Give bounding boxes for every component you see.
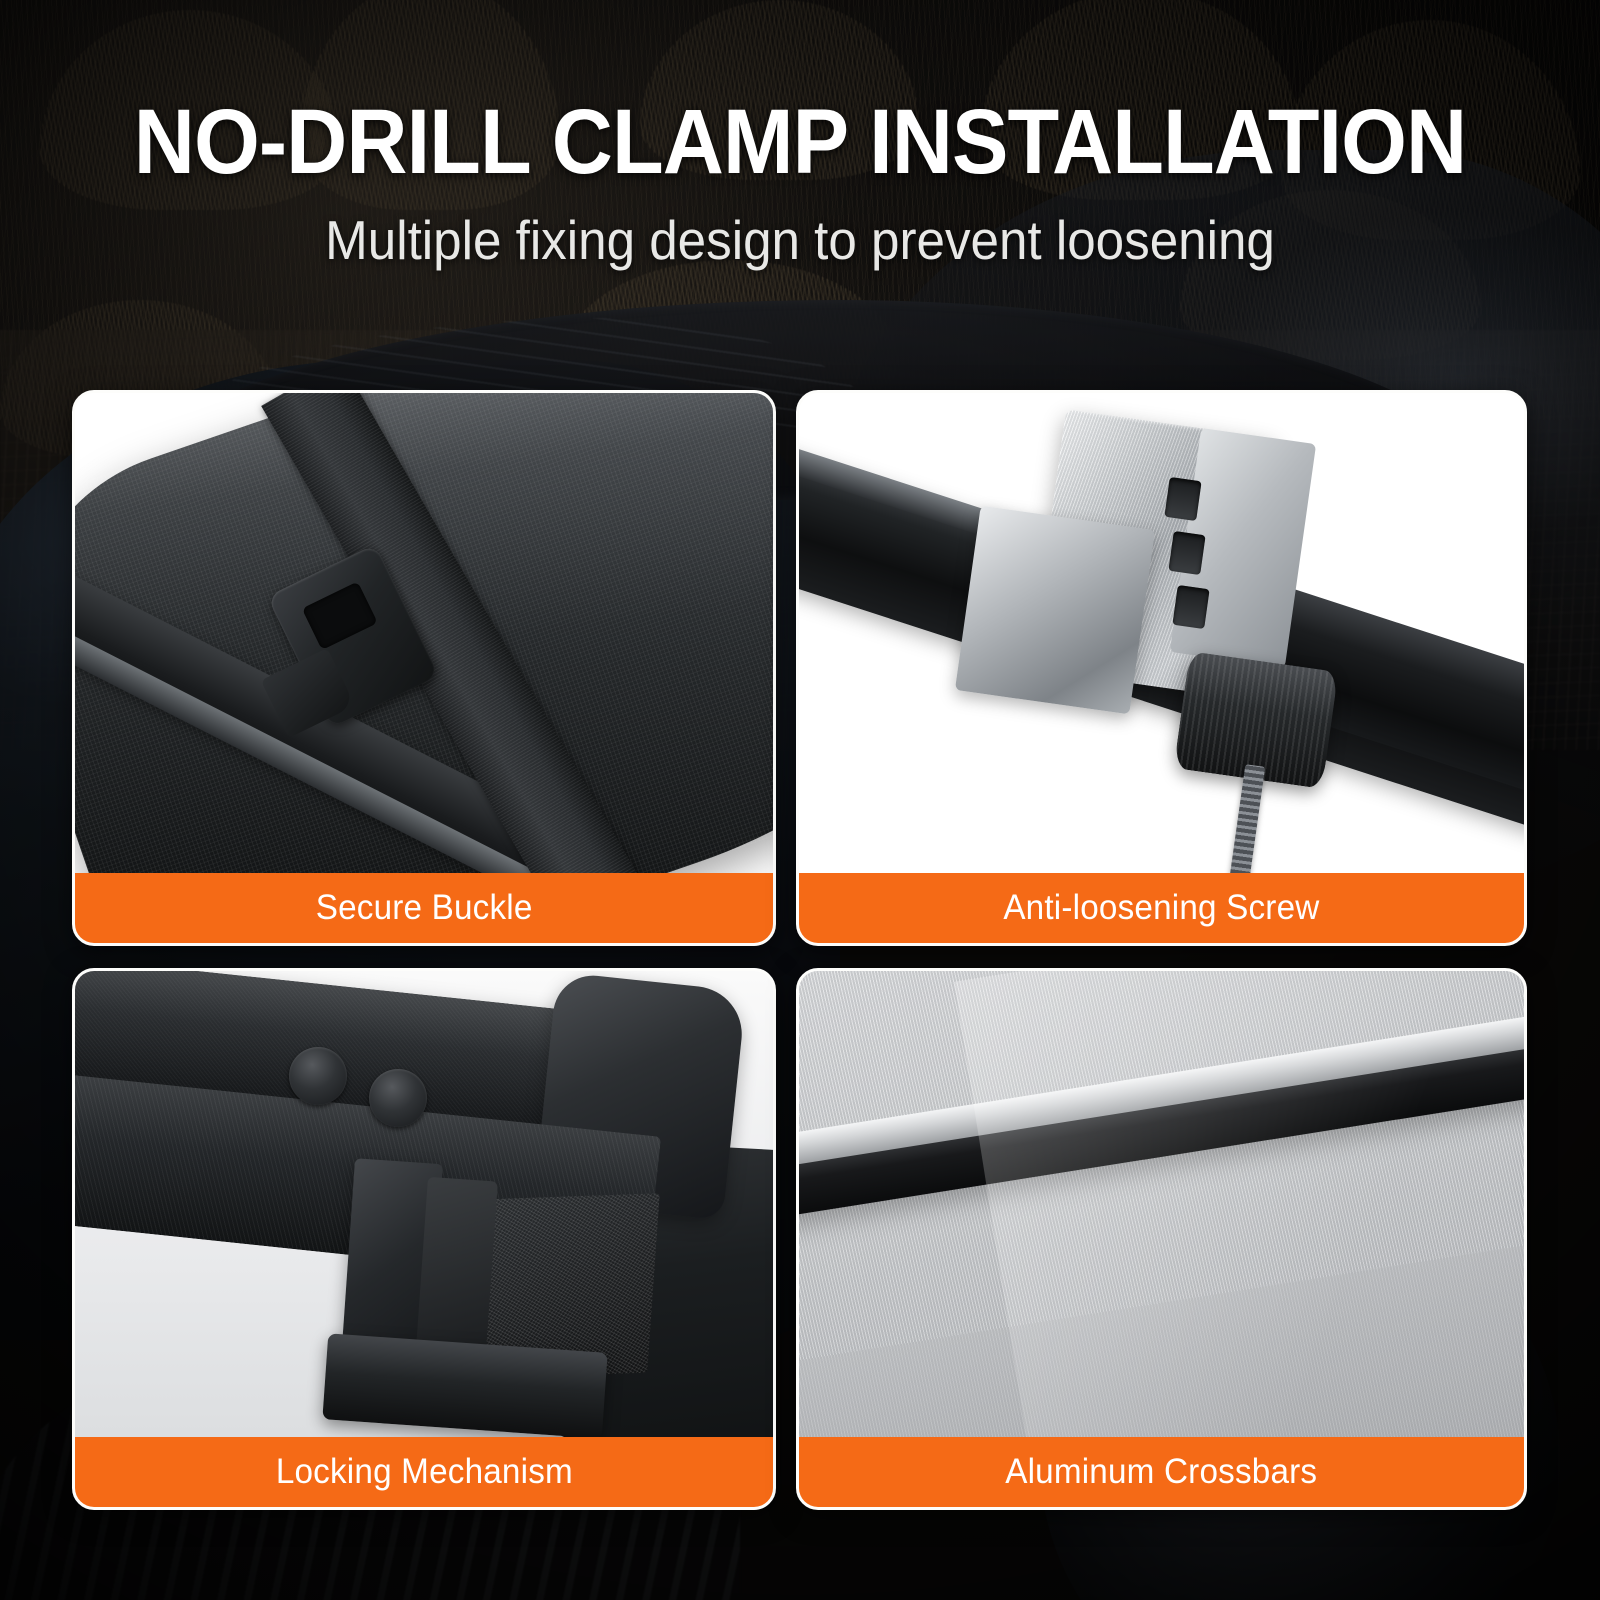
feature-panel-locking-mechanism[interactable]: Locking Mechanism: [72, 968, 776, 1510]
caption-text: Secure Buckle: [316, 888, 533, 928]
clamp-slot: [1164, 477, 1201, 521]
caption-text: Locking Mechanism: [275, 1452, 572, 1492]
feature-panel-secure-buckle[interactable]: Secure Buckle: [72, 390, 776, 946]
panel-caption-aluminum-crossbars: Aluminum Crossbars: [799, 1437, 1524, 1507]
panel-caption-secure-buckle: Secure Buckle: [75, 873, 773, 943]
threaded-screw: [1229, 764, 1266, 873]
aluminum-clamp-jaw: [955, 506, 1155, 715]
photo-secure-buckle: [75, 393, 773, 873]
feature-panel-anti-loosening-screw[interactable]: Anti-loosening Screw: [796, 390, 1527, 946]
panel-caption-anti-loosening-screw: Anti-loosening Screw: [799, 873, 1524, 943]
caption-text: Aluminum Crossbars: [1005, 1452, 1317, 1492]
photo-aluminum-crossbars: [799, 971, 1524, 1437]
clamp-slot: [1168, 531, 1205, 575]
clamp-slot: [1172, 585, 1209, 629]
feature-panel-grid: Secure Buckle Anti-loosening: [0, 0, 1600, 1600]
photo-locking-mechanism: [75, 971, 773, 1437]
photo-anti-loosening-screw: [799, 393, 1524, 873]
caption-text: Anti-loosening Screw: [1003, 888, 1319, 928]
panel-caption-locking-mechanism: Locking Mechanism: [75, 1437, 773, 1507]
product-feature-image: NO-DRILL CLAMP INSTALLATION Multiple fix…: [0, 0, 1600, 1600]
feature-panel-aluminum-crossbars[interactable]: Aluminum Crossbars: [796, 968, 1527, 1510]
